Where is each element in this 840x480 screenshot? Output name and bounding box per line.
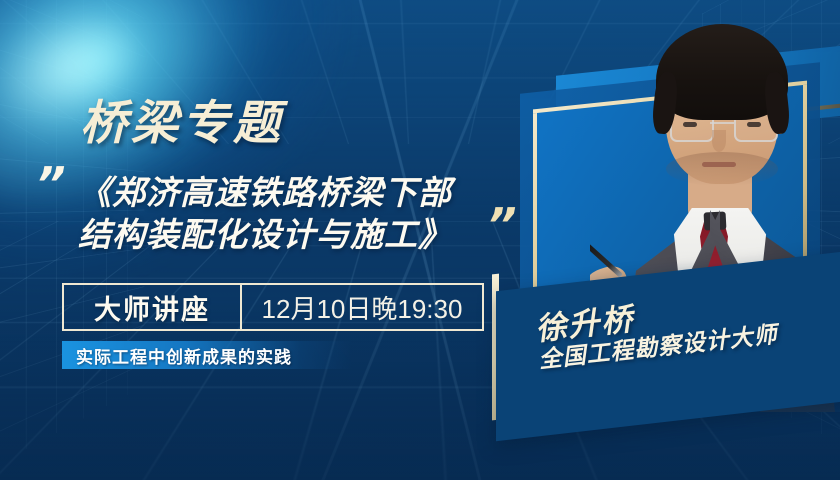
- lecture-subject: 《郑济高速铁路桥梁下部 结构装配化设计与施工》: [78, 172, 508, 256]
- lecture-badge: 大师讲座 12月10日晚19:30: [62, 283, 484, 331]
- series-title: 桥梁专题: [80, 99, 284, 146]
- badge-label-cell: 大师讲座: [64, 285, 242, 329]
- lecture-subject-line-2: 结构装配化设计与施工》: [78, 214, 508, 256]
- tagline-bar: 实际工程中创新成果的实践: [62, 341, 352, 369]
- badge-datetime-cell: 12月10日晚19:30: [242, 285, 482, 329]
- webinar-poster: 徐升桥 全国工程勘察设计大师 桥梁专题 ” ” 《郑济高速铁路桥梁下部 结构装配…: [0, 0, 840, 480]
- quote-open-icon: ”: [36, 168, 64, 200]
- lecture-subject-line-1: 《郑济高速铁路桥梁下部: [78, 172, 508, 214]
- badge-datetime: 12月10日晚19:30: [262, 289, 463, 326]
- tagline-text: 实际工程中创新成果的实践: [76, 343, 292, 368]
- badge-label: 大师讲座: [94, 288, 210, 327]
